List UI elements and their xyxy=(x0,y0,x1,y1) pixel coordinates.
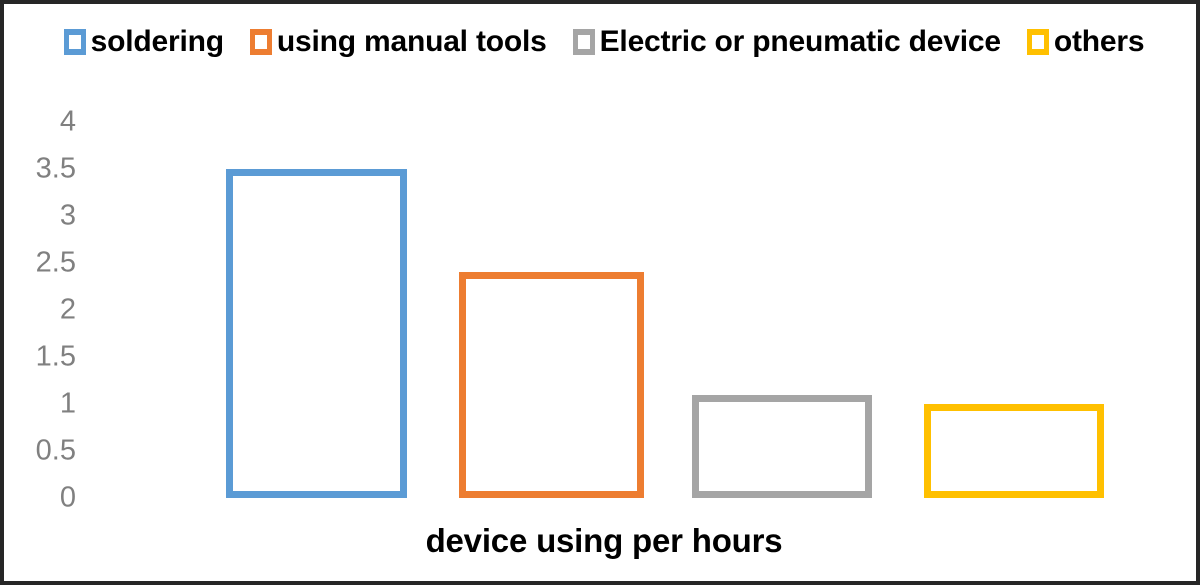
chart-figure: soldering using manual tools Electric or… xyxy=(0,0,1200,585)
x-axis-title: device using per hours xyxy=(4,522,1200,560)
bar-electric-or-pneumatic-device[interactable] xyxy=(692,395,872,498)
bar-using-manual-tools[interactable] xyxy=(459,272,644,498)
bar-others[interactable] xyxy=(924,404,1104,498)
bar-soldering[interactable] xyxy=(226,169,407,498)
bar-series-group xyxy=(4,4,1200,585)
